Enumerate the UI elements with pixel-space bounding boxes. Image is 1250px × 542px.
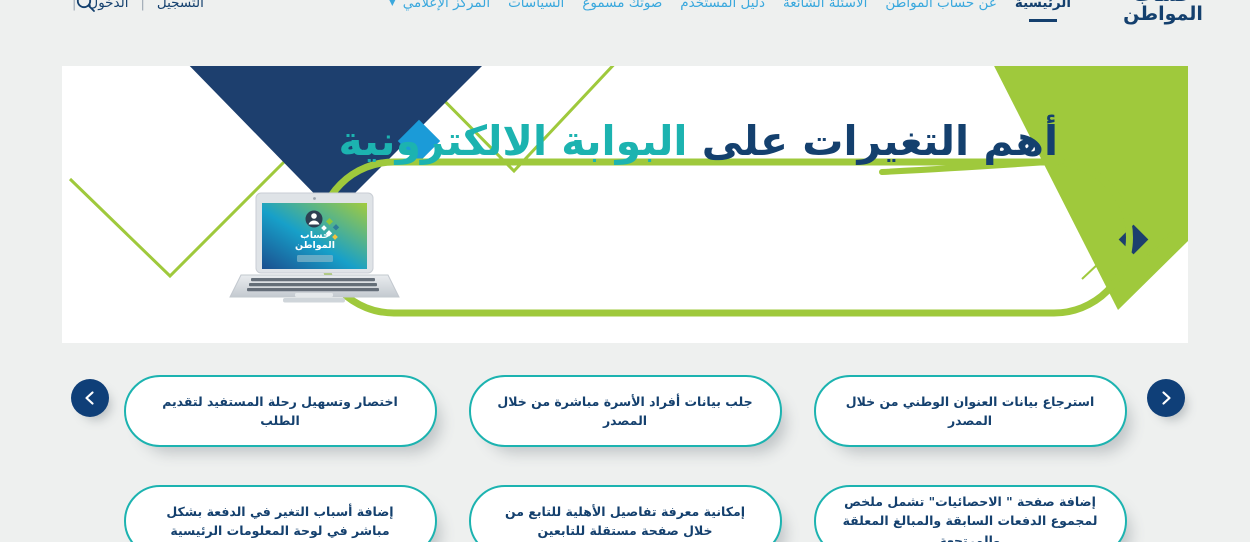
laptop-keys	[247, 278, 379, 291]
nav-item-user-guide[interactable]: دليل المستخدم	[671, 0, 774, 13]
laptop-foot	[283, 298, 345, 303]
laptop-screen-line2: المواطن	[295, 240, 335, 251]
laptop-illustration: حساب المواطن	[223, 191, 403, 311]
nav-item-faq-label: الأسئلة الشائعة	[783, 0, 867, 11]
nav-item-home-label: الرئيسية	[1015, 0, 1071, 11]
nav-item-home[interactable]: الرئيسية	[1006, 0, 1080, 13]
feature-card-row-1: اختصار وتسهيل رحلة المستفيد لتقديم الطلب…	[0, 375, 1250, 447]
green-rounded-outline	[318, 162, 1129, 313]
site-logo[interactable]: حساب المواطن	[1098, 0, 1228, 24]
laptop-camera	[313, 197, 316, 200]
headline-navy-text: أهم التغيرات على	[702, 117, 1058, 165]
main-menu: الرئيسية عن حساب المواطن الأسئلة الشائعة…	[380, 0, 1080, 13]
register-link[interactable]: التسجيل	[145, 0, 216, 13]
top-navigation-bar: حساب المواطن الرئيسية عن حساب المواطن ال…	[0, 0, 1250, 66]
nav-item-user-guide-label: دليل المستخدم	[680, 0, 765, 11]
feature-card-row-2: إضافة أسباب التغير في الدفعة بشكل مباشر …	[0, 485, 1250, 542]
feature-card-text: إضافة أسباب التغير في الدفعة بشكل مباشر …	[126, 502, 435, 541]
laptop-trackpad	[295, 293, 333, 297]
feature-card-text: إضافة صفحة " الاحصائيات" تشمل ملخص لمجمو…	[816, 492, 1125, 542]
feature-card[interactable]: إمكانية معرفة تفاصيل الأهلية للتابع من خ…	[469, 485, 782, 542]
feature-card-text: اختصار وتسهيل رحلة المستفيد لتقديم الطلب	[126, 392, 435, 431]
feature-card[interactable]: جلب بيانات أفراد الأسرة مباشرة من خلال ا…	[469, 375, 782, 447]
nav-item-policies[interactable]: السياسات	[499, 0, 573, 13]
feature-carousel: اختصار وتسهيل رحلة المستفيد لتقديم الطلب…	[0, 355, 1250, 542]
banner-headline: أهم التغيرات على البوابة الالكترونية	[338, 116, 1058, 167]
hero-banner: أهم التغيرات على البوابة الالكترونية	[62, 66, 1188, 343]
auth-separator-1: |	[140, 0, 144, 11]
feature-card-text: جلب بيانات أفراد الأسرة مباشرة من خلال ا…	[471, 392, 780, 431]
brand-line-2: المواطن	[1098, 5, 1228, 24]
nav-item-policies-label: السياسات	[508, 0, 564, 11]
nav-item-about-label: عن حساب المواطن	[885, 0, 997, 11]
feature-card[interactable]: اختصار وتسهيل رحلة المستفيد لتقديم الطلب	[124, 375, 437, 447]
laptop-screen-button	[297, 255, 333, 262]
feature-card[interactable]: استرجاع بيانات العنوان الوطني من خلال ال…	[814, 375, 1127, 447]
chevron-down-icon: ▼	[389, 0, 395, 13]
nav-item-media-center-label: المركز الإعلامي	[403, 0, 490, 11]
feature-card[interactable]: إضافة صفحة " الاحصائيات" تشمل ملخص لمجمو…	[814, 485, 1127, 542]
nav-item-media-center[interactable]: المركز الإعلامي ▼	[380, 0, 499, 13]
person-icon	[306, 211, 323, 228]
feature-card[interactable]: إضافة أسباب التغير في الدفعة بشكل مباشر …	[124, 485, 437, 542]
feature-card-text: استرجاع بيانات العنوان الوطني من خلال ال…	[816, 392, 1125, 431]
feature-card-text: إمكانية معرفة تفاصيل الأهلية للتابع من خ…	[471, 502, 780, 541]
search-icon[interactable]	[75, 0, 97, 14]
nav-item-faq[interactable]: الأسئلة الشائعة	[774, 0, 876, 13]
nav-item-your-voice[interactable]: صوتك مسموع	[573, 0, 671, 13]
headline-teal-text: البوابة الالكترونية	[338, 117, 687, 165]
page-root: حساب المواطن الرئيسية عن حساب المواطن ال…	[0, 0, 1250, 542]
nav-item-your-voice-label: صوتك مسموع	[582, 0, 662, 11]
nav-item-about[interactable]: عن حساب المواطن	[876, 0, 1006, 13]
